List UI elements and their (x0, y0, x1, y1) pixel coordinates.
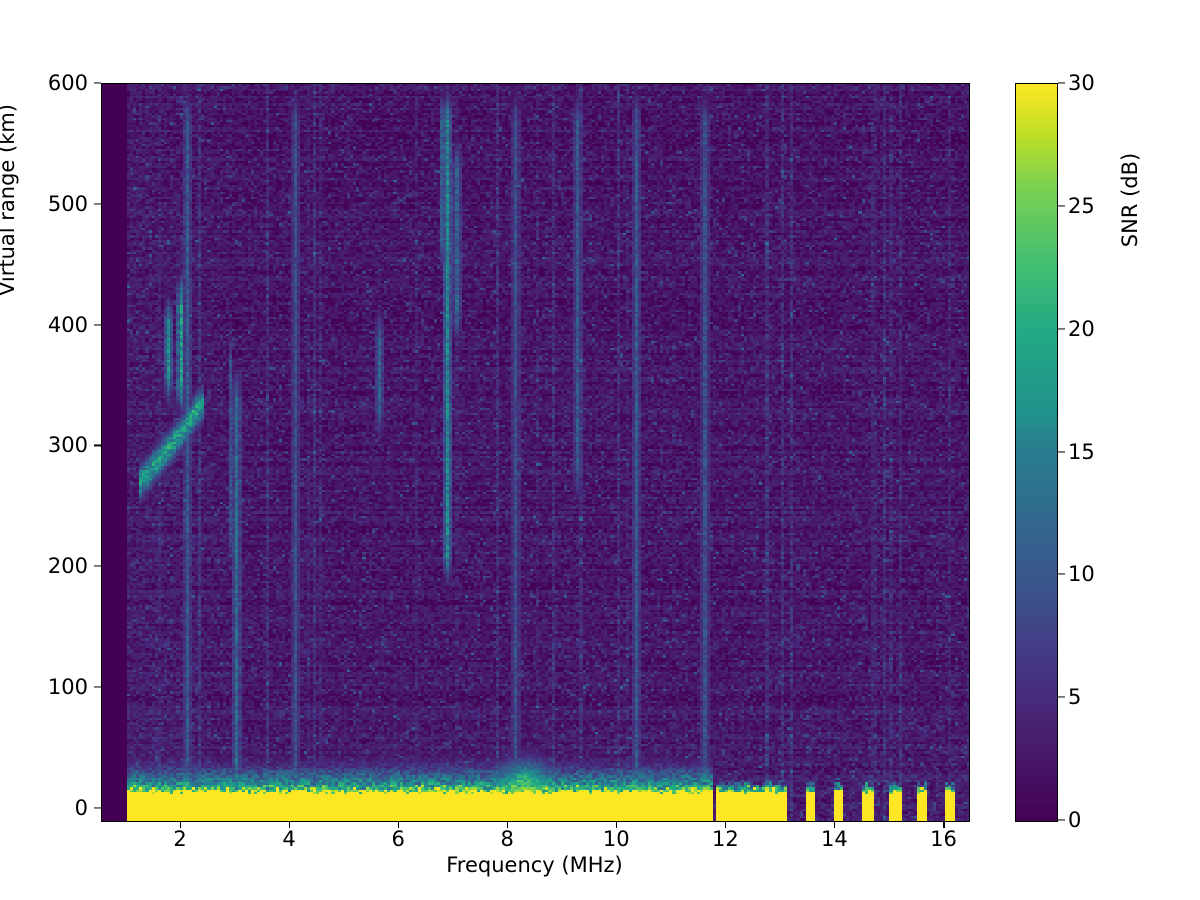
y-tick-mark-100 (94, 687, 101, 688)
x-tick-label-8: 8 (462, 827, 552, 851)
colorbar-tick-label-25: 25 (1068, 194, 1095, 218)
x-tick-label-16: 16 (898, 827, 988, 851)
colorbar-tick-mark-15 (1058, 451, 1065, 452)
colorbar-tick-label-5: 5 (1068, 685, 1081, 709)
x-tick-label-14: 14 (789, 827, 879, 851)
colorbar-tick-mark-20 (1058, 328, 1065, 329)
colorbar-tick-label-10: 10 (1068, 562, 1095, 586)
x-tick-label-6: 6 (353, 827, 443, 851)
y-tick-label-400: 400 (0, 313, 88, 337)
x-tick-label-4: 4 (244, 827, 334, 851)
colorbar-tick-label-0: 0 (1068, 808, 1081, 832)
x-tick-mark-10 (616, 821, 617, 828)
x-tick-mark-6 (398, 821, 399, 828)
y-tick-label-100: 100 (0, 675, 88, 699)
ionogram-plot-area[interactable] (101, 83, 970, 822)
y-tick-mark-0 (94, 807, 101, 808)
y-tick-label-0: 0 (0, 796, 88, 820)
y-tick-mark-300 (94, 445, 101, 446)
x-tick-mark-8 (507, 821, 508, 828)
x-tick-label-12: 12 (680, 827, 770, 851)
y-tick-mark-400 (94, 324, 101, 325)
colorbar-tick-mark-0 (1058, 819, 1065, 820)
colorbar-tick-label-20: 20 (1068, 317, 1095, 341)
x-tick-label-10: 10 (571, 827, 661, 851)
colorbar-tick-mark-5 (1058, 697, 1065, 698)
y-tick-label-300: 300 (0, 433, 88, 457)
colorbar (1015, 83, 1058, 822)
ionogram-figure: IRF Uppsala SDR Ionosonde UP158 2026-04-… (0, 0, 1200, 900)
colorbar-tick-mark-10 (1058, 574, 1065, 575)
colorbar-tick-mark-30 (1058, 82, 1065, 83)
colorbar-label: SNR (dB) (1118, 70, 1142, 330)
colorbar-tick-label-30: 30 (1068, 71, 1095, 95)
y-tick-mark-200 (94, 566, 101, 567)
y-tick-label-600: 600 (0, 71, 88, 95)
x-tick-mark-2 (180, 821, 181, 828)
x-tick-mark-14 (834, 821, 835, 828)
colorbar-tick-label-15: 15 (1068, 440, 1095, 464)
x-tick-mark-16 (943, 821, 944, 828)
y-tick-mark-600 (94, 82, 101, 83)
x-tick-mark-4 (289, 821, 290, 828)
x-tick-label-2: 2 (135, 827, 225, 851)
y-tick-mark-500 (94, 203, 101, 204)
x-axis-label: Frequency (MHz) (101, 853, 968, 877)
x-tick-mark-12 (725, 821, 726, 828)
y-tick-label-200: 200 (0, 554, 88, 578)
colorbar-tick-mark-25 (1058, 205, 1065, 206)
y-tick-label-500: 500 (0, 192, 88, 216)
ionogram-heatmap (102, 84, 969, 821)
